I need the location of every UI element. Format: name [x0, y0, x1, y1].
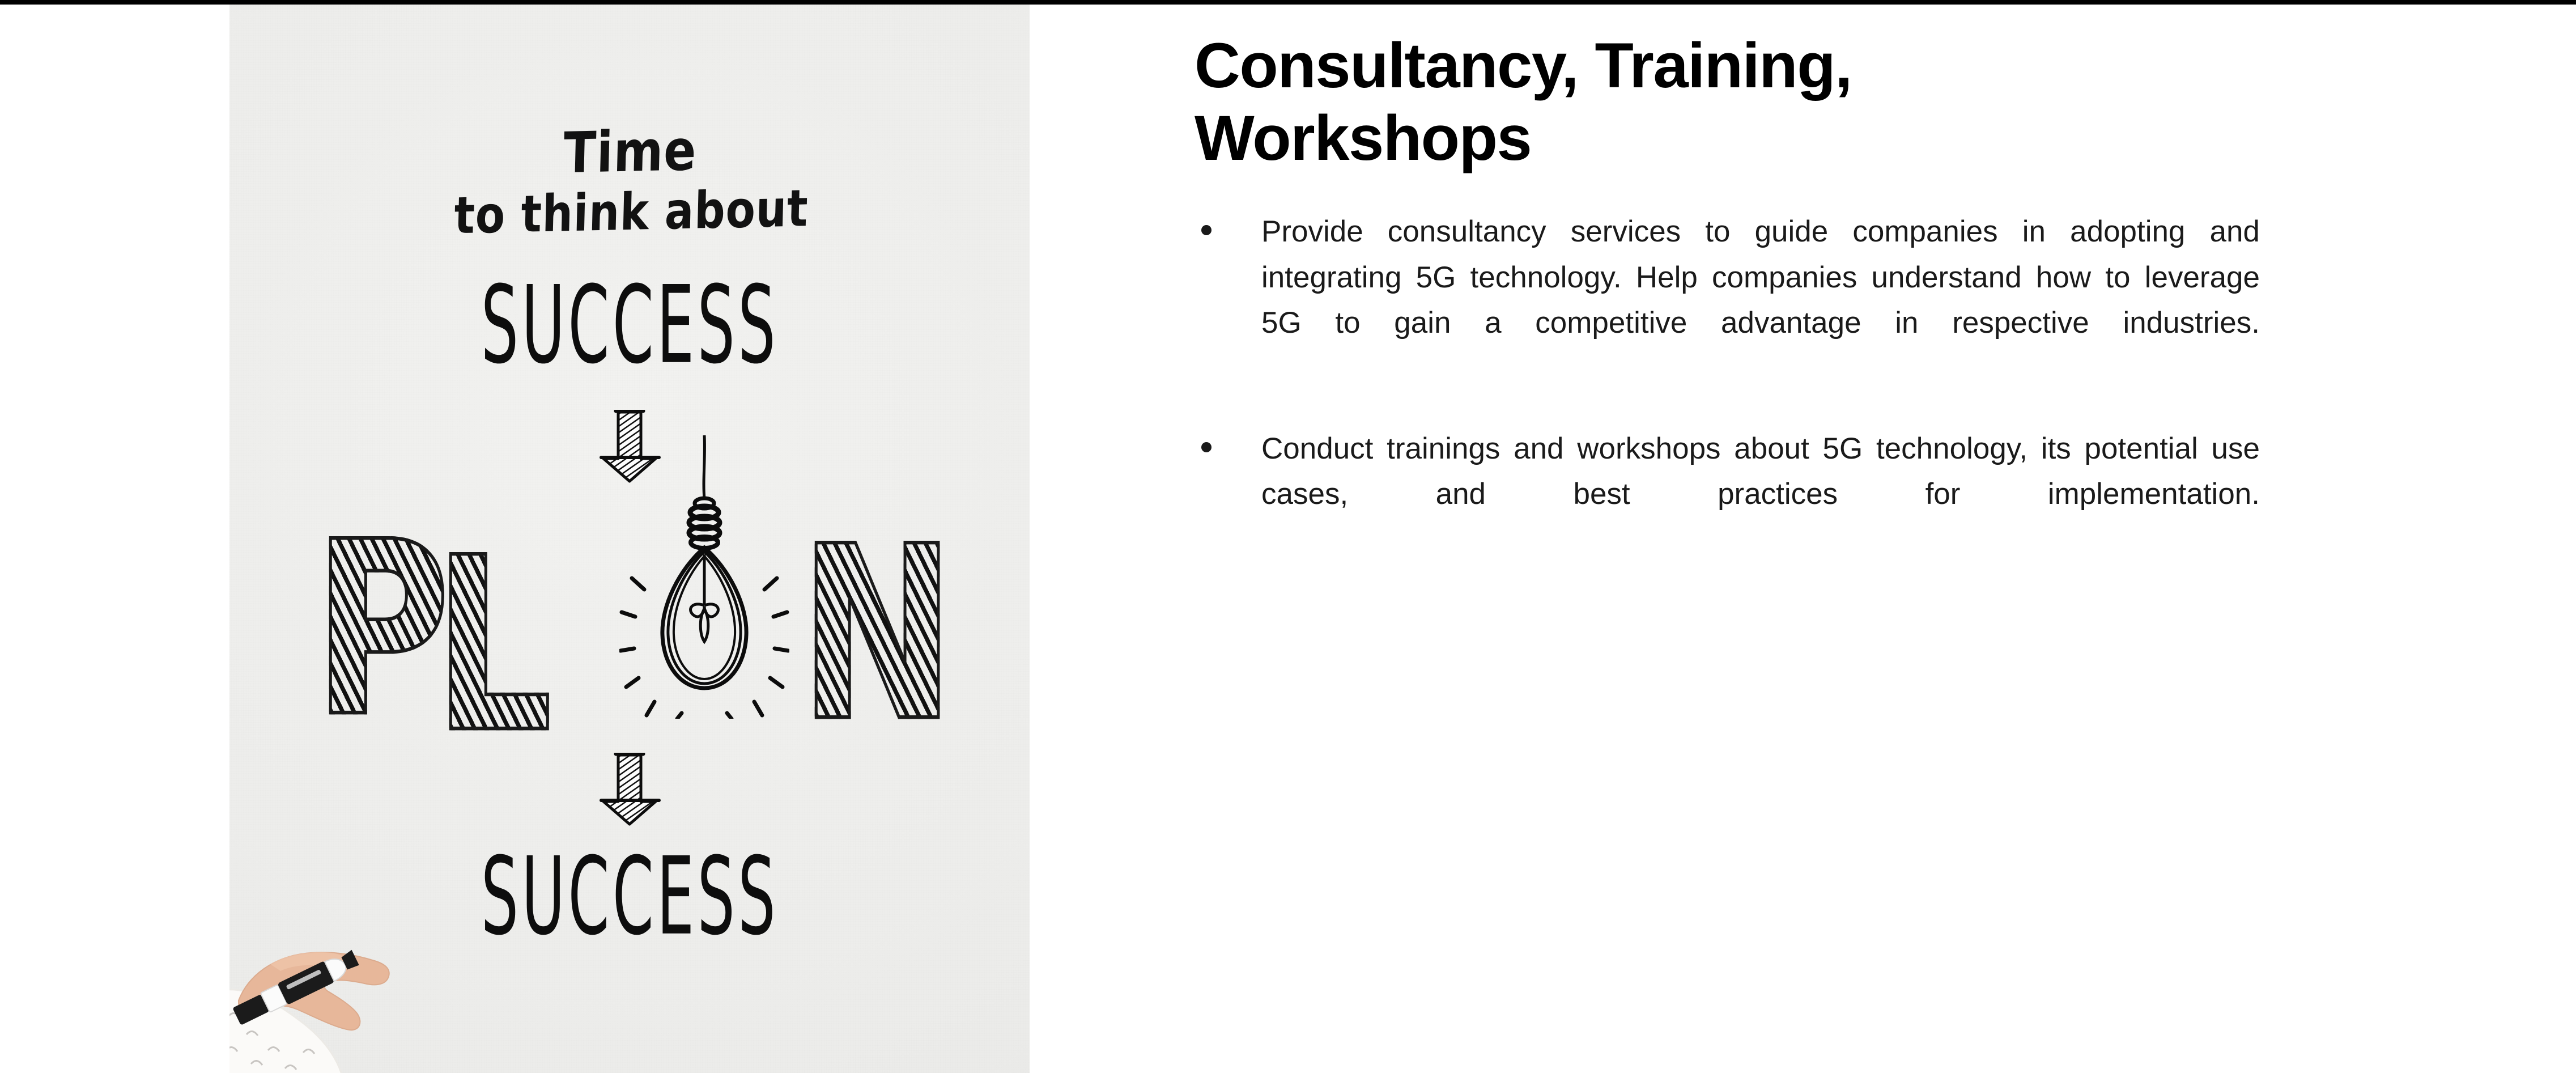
- handwritten-line-time: Time: [229, 115, 1030, 188]
- plan-letter-n: N: [799, 515, 955, 754]
- plan-letter-l: L: [433, 526, 552, 765]
- hand-holding-marker: [229, 812, 484, 1073]
- bullet-list: Provide consultancy services to guide co…: [1195, 209, 2260, 563]
- slide: Time to think about SUCCESS P L N: [0, 0, 2576, 1073]
- bullet-point-icon: [1201, 225, 1212, 235]
- list-item: Provide consultancy services to guide co…: [1195, 209, 2260, 392]
- lightbulb-icon: [619, 435, 789, 719]
- down-arrow-icon-bottom: [597, 753, 665, 826]
- whiteboard-photo: Time to think about SUCCESS P L N: [229, 5, 1030, 1073]
- bullet-text: Conduct trainings and workshops about 5G…: [1261, 426, 2260, 563]
- handwritten-success-top: SUCCESS: [229, 283, 1030, 367]
- page-title: Consultancy, Training, Workshops: [1195, 0, 2260, 174]
- list-item: Conduct trainings and workshops about 5G…: [1195, 426, 2260, 563]
- handwritten-line-to-think-about: to think about: [231, 178, 1030, 245]
- bullet-text: Provide consultancy services to guide co…: [1261, 209, 2260, 392]
- bullet-point-icon: [1201, 442, 1212, 452]
- plan-letter-p: P: [313, 510, 450, 749]
- handwritten-time-to-think-about: Time to think about: [229, 124, 1030, 246]
- slide-content-column: Consultancy, Training, Workshops Provide…: [1195, 0, 2260, 563]
